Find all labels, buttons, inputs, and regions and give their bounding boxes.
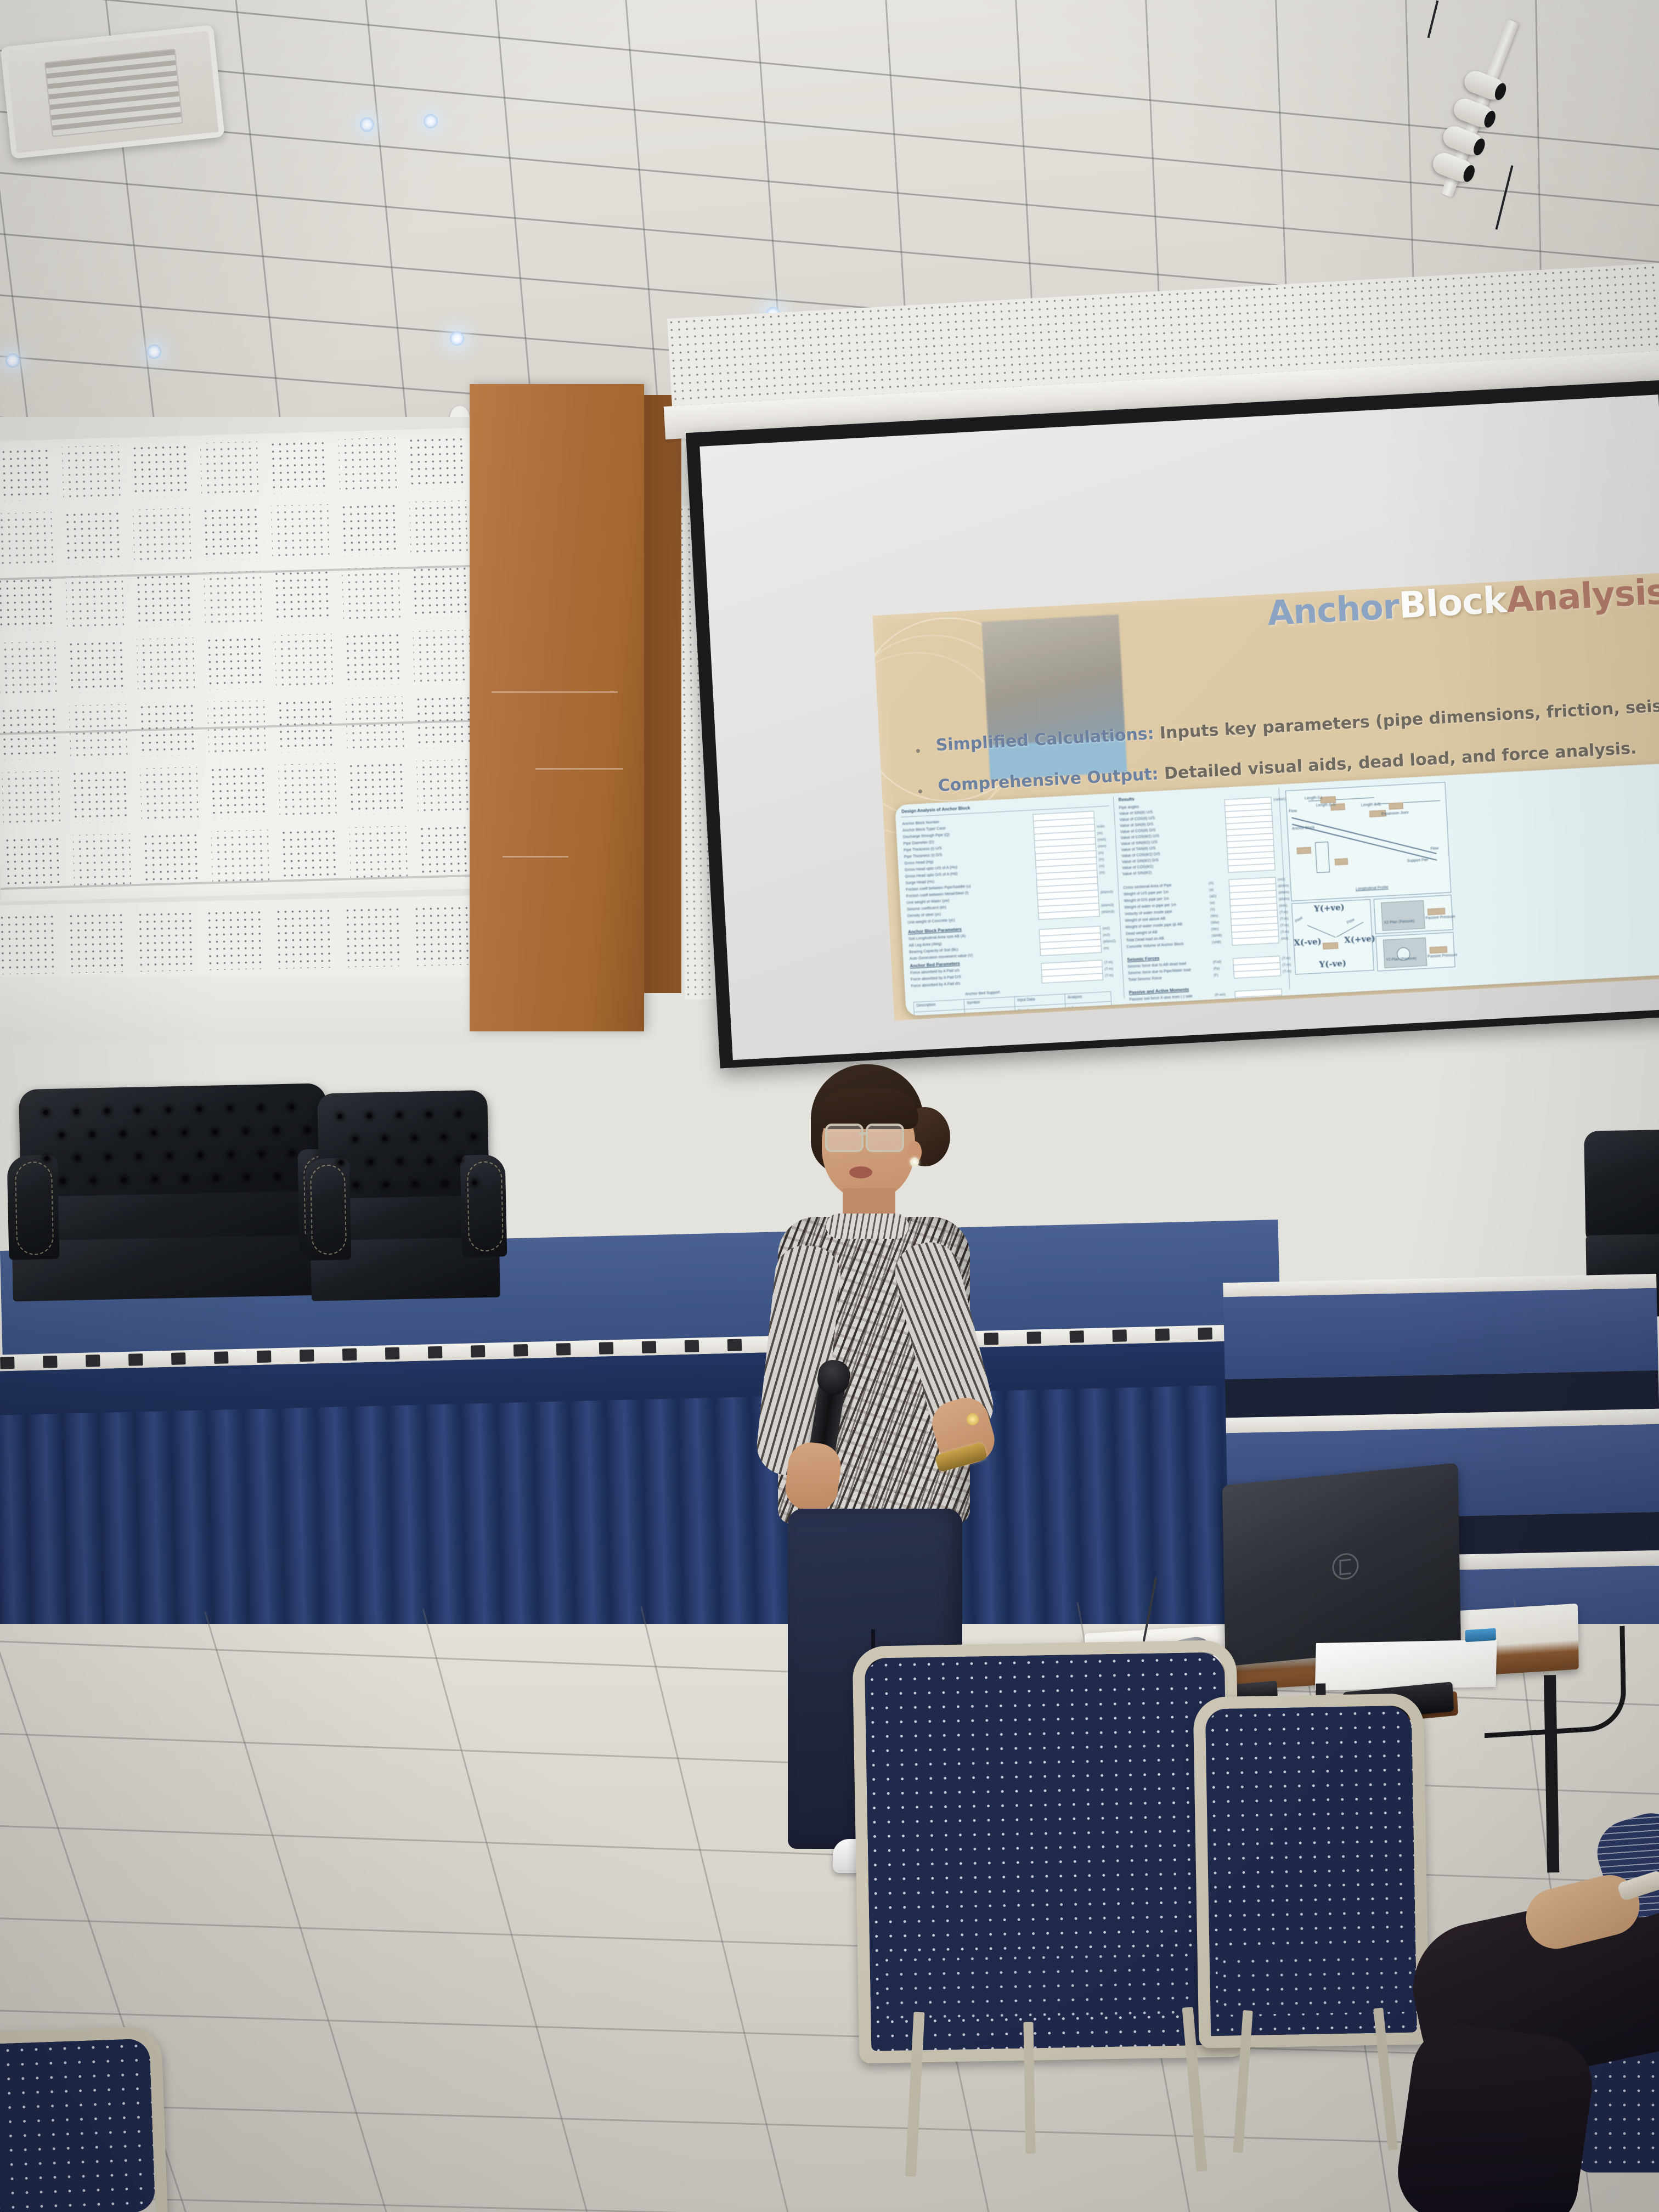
sheet-row-unit: (m): [1098, 857, 1104, 862]
eyeglasses-right-lens-icon: [866, 1124, 904, 1152]
sheet-row-label: Auto Generation movement value (V): [910, 954, 973, 961]
earring-icon: [910, 1158, 919, 1166]
eyeglasses-left-lens-icon: [825, 1124, 864, 1152]
sheet-row-label: Value of COS(θ/2): [1122, 865, 1153, 871]
seated-audience-member: [1437, 1810, 1659, 2212]
sheet-row-label: Seismic force due to Pipe/Water load: [1128, 968, 1191, 975]
sheet-row-unit: (m): [1099, 871, 1105, 875]
sheet-row-unit: (m/s): [1279, 904, 1288, 908]
diagram-flow-label-b: Flow: [1346, 918, 1355, 925]
downlight-icon: [360, 117, 374, 132]
sheet-row-label: Cross sectional Area of Pipe: [1123, 884, 1171, 890]
mini-table-header: Symbol: [967, 1001, 980, 1005]
sheet-row-symbol: (Ws): [1210, 914, 1218, 918]
sheet-row-unit: (T-m): [1280, 930, 1289, 934]
passive-pressure-label-1: Passive Pressure: [1425, 915, 1455, 921]
banquet-chair-right[interactable]: [1193, 1693, 1429, 2048]
sheet-row-unit: (m3): [1281, 936, 1289, 941]
sheet-row-unit: (kN/m3): [1101, 890, 1113, 895]
sheet-row-label: Value of COS(θ) U/S: [1120, 816, 1155, 822]
sheet-row-unit: (T-m): [1104, 967, 1113, 972]
diagram-anchor-block: Anchor Block: [1292, 826, 1315, 831]
sheet-results-heading: Results: [1119, 797, 1135, 803]
sheet-row-unit: (T-m): [1280, 923, 1289, 928]
downlight-icon: [424, 114, 438, 128]
dell-logo-icon: [1332, 1552, 1359, 1581]
ring-icon: [967, 1413, 979, 1425]
sheet-row-label: Gross Head upto D/S of A (Hd): [905, 872, 958, 879]
sheet-row-label: Value of COS(θ/2) U/S: [1120, 834, 1159, 840]
chair-seat-pad: [1217, 1951, 1416, 2015]
projection-screen-frame: AnchorBlockAnalysis Simplified Calculati…: [686, 380, 1659, 1068]
sheet-row-label: Weight of D/S pipe per 1m: [1124, 897, 1169, 903]
sheet-row-label: Unit weight of Water (yw): [906, 899, 949, 905]
sheet-seismic-heading: Seismic Forces: [1127, 956, 1159, 962]
diagram-length-3: Length (L3): [1361, 803, 1381, 808]
sheet-anchorblock-heading: Anchor Block Parameters: [908, 927, 962, 935]
sheet-row-unit: (m): [1097, 831, 1103, 836]
mini-table-caption: Anchor Bed Support: [965, 991, 1000, 996]
sheet-row-label: Velocity of water inside pipe: [1125, 910, 1172, 917]
sheet-row-unit: (kN/m2): [1103, 939, 1116, 944]
sheet-row-symbol: (w): [1210, 901, 1215, 905]
sheet-row-label: Gross Head upto U/S of A (Hu): [905, 866, 957, 872]
sheet-passive-heading: Passive and Active Moments: [1129, 987, 1189, 995]
sheet-row-label: Passive soil force Y-axis from (+) side: [1130, 1013, 1194, 1016]
sheet-row-label: Force absorbed by A Pad D/S: [911, 975, 961, 982]
slide-title-part1: Anchor: [1266, 586, 1400, 634]
mini-table-header: Input Data: [1017, 998, 1035, 1003]
sheet-row-symbol: (P-xp): [1215, 999, 1225, 1003]
presentation-slide: AnchorBlockAnalysis Simplified Calculati…: [872, 572, 1659, 1021]
diagram-support-pier: Support Pier: [1407, 858, 1428, 863]
sheet-row-label: Unit weight of Concrete (yc): [907, 918, 955, 925]
acoustic-panel-wall-lower: [0, 894, 549, 988]
sheet-row-unit: (T-m): [1105, 974, 1114, 978]
slide-title: AnchorBlockAnalysis: [1267, 577, 1659, 628]
sheet-row-unit: (kN/m): [1278, 884, 1289, 888]
sheet-row-unit: (m2): [1278, 878, 1285, 882]
sheet-row-symbol: (Fp): [1214, 967, 1220, 971]
sheet-row-label: Value of COS(θ/2) D/S: [1121, 853, 1160, 859]
sheet-row-unit: (m): [1099, 864, 1104, 868]
embedded-spreadsheet-screenshot: Design Analysis of Anchor Block Anchor B…: [895, 763, 1659, 1016]
sheet-row-label: Gross Head (Hg): [904, 860, 933, 866]
structural-column: [470, 384, 644, 1031]
sheet-row-label: Pipe Thickness (t) D/S: [904, 853, 943, 859]
sheet-row-unit: (mm): [1098, 844, 1107, 849]
axis-label-x-pos: X(+ve): [1344, 934, 1376, 945]
sheet-row-symbol: (P-ym): [1215, 1005, 1226, 1009]
sheet-title: Design Analysis of Anchor Block: [901, 805, 970, 814]
sheet-row-label: Dead weight of AB: [1126, 930, 1158, 936]
axis-label-y-pos: Y(+ve): [1314, 902, 1345, 914]
eyeglasses-bridge-icon: [859, 1132, 867, 1135]
presenter-mouth: [849, 1166, 872, 1178]
sheet-row-label: Value of SIN(θ/2) D/S: [1122, 859, 1159, 865]
sheet-row-label: Discharge through Pipe (Q): [903, 833, 950, 840]
sheet-row-unit: (T-m): [1279, 910, 1288, 915]
banquet-chair-front[interactable]: [852, 1640, 1243, 2063]
sheet-row-label: Friction coeff between Pipe/Saddle (u): [906, 885, 971, 892]
sheet-row-label: Anchor Block Type/ Case: [902, 827, 946, 833]
audience-leg-lower: [1392, 2018, 1599, 2212]
mini-table-header: Description: [916, 1003, 935, 1008]
downlight-icon: [147, 345, 161, 359]
diagram-flow-label-right: Flow: [1430, 847, 1438, 851]
sheet-row-label: Surge Head (Hs): [905, 880, 934, 885]
sheet-row-label: Value of SIN(θ/2) U/S: [1121, 840, 1158, 847]
sheet-row-unit: (T-m): [1104, 961, 1113, 965]
slide-title-part3: Analysis: [1505, 572, 1659, 621]
sheet-row-symbol: (Fsd): [1213, 960, 1222, 964]
sheet-row-label: Value of SIN(θ/2): [1122, 871, 1152, 877]
slide-title-part2: Block: [1398, 579, 1508, 627]
presenter-hair-front: [819, 1088, 918, 1129]
sheet-row-unit: (T-m): [1282, 956, 1291, 961]
sheet-row-unit: (kN/m): [1278, 890, 1289, 895]
leather-sofa: [9, 1083, 348, 1304]
sheet-row-label: Passive soil force X-axis from (+) side: [1130, 1001, 1194, 1008]
sheet-row-label: Pipe Thickness (t) U/S: [904, 847, 942, 853]
projection-screen-surface: AnchorBlockAnalysis Simplified Calculati…: [699, 394, 1659, 1060]
diagram-flow-label-left: Flow: [1289, 809, 1297, 814]
sheet-row-label: Pipe angles: [1119, 805, 1139, 810]
sheet-row-symbol: (WAB): [1211, 934, 1222, 938]
leather-armchair: [305, 1090, 507, 1302]
sheet-row-label: AB Leg Area (Aleg): [909, 943, 941, 948]
paper-stack: [1315, 1640, 1497, 1690]
longitudinal-profile-diagram: Flow Flow Length (L) Length (L2) Length …: [1285, 782, 1451, 901]
sheet-row-unit: (T-m): [1283, 969, 1291, 974]
sheet-row-label: Total Seismic Force: [1128, 977, 1161, 982]
sheet-row-symbol: (P-xm): [1215, 993, 1226, 997]
mini-table-cell: Result: [1018, 1009, 1029, 1013]
sheet-row-label: Soil Longitudinal Area size AB (A): [909, 934, 966, 941]
sheet-row-label: Value of COS(θ) D/S: [1120, 828, 1156, 834]
diagram-profile-caption: Longitudinal Profile: [1356, 885, 1389, 891]
column-side-face: [644, 395, 681, 993]
sheet-row-unit: (radian): [1273, 797, 1286, 802]
axis-label-y-neg: Y(-ve): [1319, 958, 1346, 970]
sheet-row-label: Weight of water inside pipe @ AB: [1125, 923, 1182, 930]
photo-canvas: AnchorBlockAnalysis Simplified Calculati…: [0, 0, 1659, 2212]
laptop[interactable]: [1222, 1463, 1461, 1666]
sheet-row-label: Friction coeff between Metal/Steel (f): [906, 891, 969, 899]
chair-frame: [0, 2026, 168, 2212]
sheet-row-label: Total Dead load on AB: [1126, 937, 1165, 943]
passive-pressure-plan-2: Y2 Plan (Passive) Passive Pressure: [1375, 932, 1455, 972]
bullet-1-rest: Inputs key parameters (pipe dimensions, …: [1154, 691, 1659, 743]
sheet-input-field[interactable]: [1235, 1001, 1283, 1011]
sheet-row-unit: (m2): [1103, 933, 1110, 938]
sheet-row-symbol: (a): [1209, 888, 1214, 892]
downlight-icon: [450, 331, 464, 346]
sheet-row-label: Value of SIN(θ) D/S: [1120, 822, 1153, 828]
sheet-row-label: Weight of water in pipe per 1m: [1124, 903, 1176, 910]
sheet-row-label: Force absorbed by A Pad u/s: [910, 969, 960, 975]
sheet-row-symbol: (F): [1214, 973, 1218, 977]
sheet-row-label: Passive soil force Y-axis from (-) side: [1130, 1007, 1193, 1014]
sheet-row-label: Value of SIN(θ) U/S: [1119, 810, 1153, 816]
sheet-row-label: Weight of U/S pipe per 1m: [1124, 890, 1169, 896]
sheet-row-label: Density of steel (ys): [907, 913, 941, 918]
slide-photo-thumbnail: [981, 614, 1127, 780]
sheet-row-symbol: (Ww): [1211, 921, 1220, 925]
diagram-expansion-joint: Expansion Joint: [1381, 811, 1409, 816]
ac-vent-icon: [0, 25, 224, 159]
sheet-row-label: Anchor Block Number: [902, 820, 939, 826]
sheet-row-symbol: (V): [1210, 908, 1215, 912]
banquet-chair-left-corner[interactable]: [0, 2026, 168, 2212]
sheet-row-label: Bearing Capacity of Soil (Bc): [909, 948, 958, 955]
sheet-row-label: Concrete Volume of Anchor Block: [1126, 943, 1184, 950]
diagram-flow-label-a: Flow: [1294, 916, 1303, 924]
sheet-row-unit: (m): [1103, 946, 1109, 951]
sheet-input-field[interactable]: [1235, 1007, 1283, 1016]
sheet-row-label: Value of TAN(θ) U/S: [1121, 847, 1156, 852]
sheet-row-unit: (kN/m): [1279, 897, 1290, 901]
sheet-row-symbol: (Wc): [1211, 927, 1219, 932]
sheet-row-label: Force absorbed by A Pad d/s: [911, 982, 960, 989]
sheet-row-unit: (mm): [1098, 838, 1107, 842]
downlight-icon: [5, 353, 20, 368]
sheet-row-symbol: (P-yp): [1216, 1011, 1226, 1015]
sheet-row-symbol: (VAB): [1212, 940, 1221, 945]
sheet-row-label: Seismic force due to AB dead load: [1127, 962, 1186, 969]
sheet-row-unit: (kN/m3): [1102, 910, 1114, 915]
mini-table-cell: 1.0: [1068, 1007, 1074, 1011]
sheet-row-symbol: (A): [1209, 882, 1214, 885]
sheet-row-unit: (kN/m3): [1101, 904, 1114, 908]
chair-seat-pad: [879, 1947, 1232, 2019]
sheet-row-unit: (m): [1098, 851, 1104, 855]
sheet-row-unit: (m2): [1102, 927, 1110, 931]
sheet-row-unit: (T-m): [1282, 963, 1291, 967]
mini-table-header: Analysis: [1068, 995, 1082, 1000]
passive-pressure-label-2: Passive Pressure: [1427, 953, 1458, 959]
sheet-row-unit: (T-m): [1280, 917, 1289, 921]
sheet-row-unit: m3/s: [1097, 825, 1104, 829]
sheet-row-label: Weight of soil above AB: [1125, 917, 1166, 923]
sheet-row-label: Seismic coefficient (kh): [907, 906, 946, 912]
passive-pressure-plan-1: X2 Plan (Passive) Passive Pressure: [1373, 895, 1453, 934]
presenter-collar: [826, 1214, 909, 1239]
sheet-row-label: Pipe Diameter (D): [903, 840, 934, 846]
axis-label-x-neg: X(-ve): [1294, 936, 1322, 948]
plan-axes-diagram: Y(+ve) X(-ve) X(+ve) Y(-ve) Flow Flow: [1291, 899, 1374, 975]
sheet-row-symbol: (aD): [1209, 894, 1216, 899]
sheet-anchorbed-heading: Anchor Bed Parameters: [910, 961, 960, 969]
